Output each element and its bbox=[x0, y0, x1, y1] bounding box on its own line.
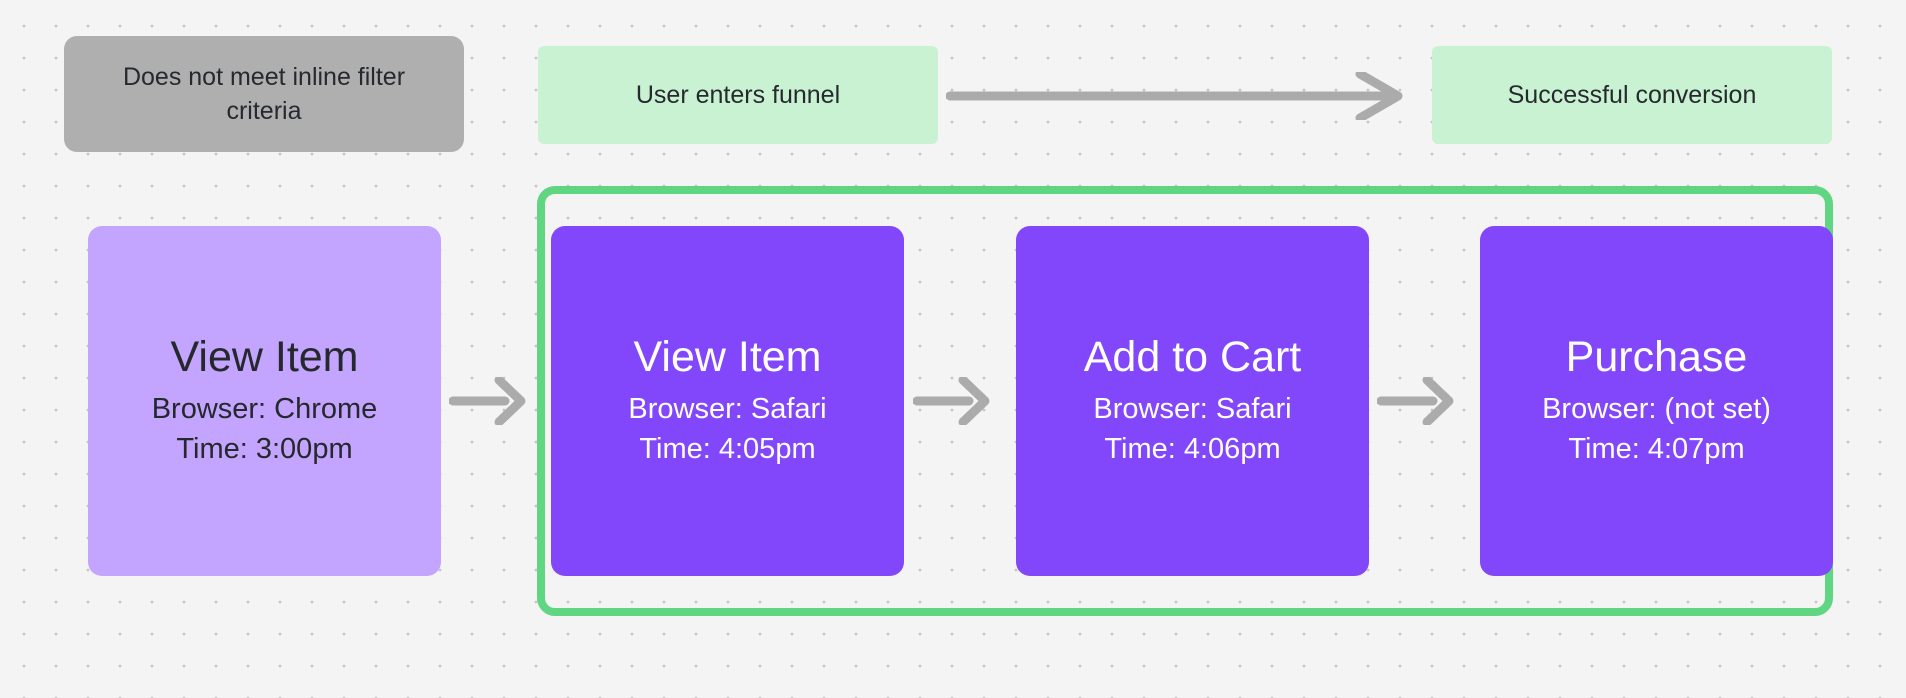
event-card-time: Time: 3:00pm bbox=[176, 429, 352, 469]
legend-excluded-note: Does not meet inline filter criteria bbox=[64, 36, 464, 152]
event-card-browser: Browser: (not set) bbox=[1542, 389, 1771, 429]
legend-funnel-entry-label: User enters funnel bbox=[636, 81, 840, 110]
flow-arrow-icon-1 bbox=[449, 377, 539, 425]
flow-arrow-icon-3 bbox=[1377, 377, 1467, 425]
legend-successful-conversion-label: Successful conversion bbox=[1508, 81, 1757, 110]
event-card-purchase[interactable]: Purchase Browser: (not set) Time: 4:07pm bbox=[1480, 226, 1833, 576]
event-card-time: Time: 4:07pm bbox=[1568, 429, 1744, 469]
event-card-time: Time: 4:05pm bbox=[639, 429, 815, 469]
event-card-title: Purchase bbox=[1566, 333, 1748, 381]
legend-flow-arrow-icon bbox=[946, 72, 1424, 120]
event-card-view-item-chrome[interactable]: View Item Browser: Chrome Time: 3:00pm bbox=[88, 226, 441, 576]
event-card-browser: Browser: Safari bbox=[1093, 389, 1291, 429]
event-card-browser: Browser: Chrome bbox=[152, 389, 378, 429]
event-card-view-item-safari[interactable]: View Item Browser: Safari Time: 4:05pm bbox=[551, 226, 904, 576]
legend-excluded-note-label: Does not meet inline filter criteria bbox=[82, 60, 446, 129]
event-card-time: Time: 4:06pm bbox=[1104, 429, 1280, 469]
legend-successful-conversion: Successful conversion bbox=[1432, 46, 1832, 144]
diagram-canvas: Does not meet inline filter criteria Use… bbox=[0, 0, 1906, 698]
event-card-browser: Browser: Safari bbox=[628, 389, 826, 429]
event-card-title: View Item bbox=[634, 333, 822, 381]
event-card-title: Add to Cart bbox=[1084, 333, 1302, 381]
legend-funnel-entry: User enters funnel bbox=[538, 46, 938, 144]
event-card-title: View Item bbox=[171, 333, 359, 381]
event-card-add-to-cart[interactable]: Add to Cart Browser: Safari Time: 4:06pm bbox=[1016, 226, 1369, 576]
flow-arrow-icon-2 bbox=[913, 377, 1003, 425]
